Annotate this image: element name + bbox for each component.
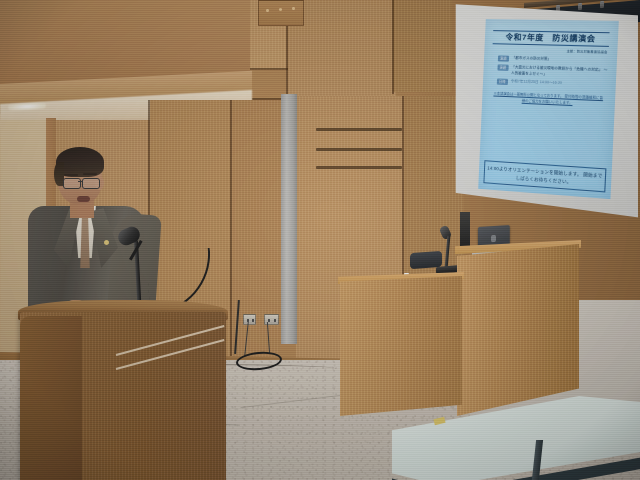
eyeglasses-icon xyxy=(63,178,81,189)
projected-slide: 令和7年度 防災講演会 主催：防災対策推進協議会 演題 「都市ガスの防災対策」 … xyxy=(478,19,619,199)
projection-screen: 令和7年度 防災講演会 主催：防災対策推進協議会 演題 「都市ガスの防災対策」 … xyxy=(452,2,638,224)
presenter-desk xyxy=(457,244,579,416)
podium-stripe xyxy=(116,325,225,356)
slide-row-text: 「都市ガスの防災対策」 xyxy=(512,56,552,63)
wall-outlet-panel[interactable] xyxy=(243,314,256,325)
slide-row-tag: 演題 xyxy=(497,64,508,70)
speaker-eyebrow xyxy=(83,173,97,175)
podium-stripe xyxy=(116,339,225,370)
photograph-seminar-room: 令和7年度 防災講演会 主催：防災対策推進協議会 演題 「都市ガスの防災対策」 … xyxy=(0,0,640,480)
pa-speaker xyxy=(460,212,470,246)
speaker-mouth xyxy=(77,196,90,202)
wall-metal-strip xyxy=(281,94,297,344)
wall-panel-upper-right xyxy=(392,0,452,92)
slide-row-text: 令和7年12月25日 14:00〜16:20 xyxy=(511,79,563,87)
wall-reveal-slot xyxy=(316,166,402,169)
eyeglasses-icon xyxy=(82,178,100,189)
speaker-eyebrow xyxy=(64,174,78,176)
slide-row: 演題 「大震災における被災現地の教訓から「危機への対応」 〜人的被害をふせぐ〜」 xyxy=(497,64,611,79)
side-desk xyxy=(340,276,462,416)
podium-side-panel xyxy=(20,316,82,480)
lapel-pin-icon xyxy=(104,240,109,245)
slide-note: ※本講演会は一般無料公開となっております。 受付時間の混雑緩和に皆様のご協力をお… xyxy=(493,91,603,108)
eyeglasses-bridge xyxy=(78,181,83,182)
wall-reveal-slot xyxy=(316,128,402,131)
slide-row: 演題 「都市ガスの防災対策」 xyxy=(498,55,612,64)
slide-row-text: 「大震災における被災現地の教訓から「危機への対応」 〜人的被害をふせぐ〜」 xyxy=(511,65,611,80)
wall-panel-mid xyxy=(232,100,280,372)
panel-seam xyxy=(392,0,394,94)
wall-reveal-slot xyxy=(316,148,402,151)
ceiling-access-plate xyxy=(258,0,304,26)
slide-row: 日時 令和7年12月25日 14:00〜16:20 xyxy=(497,79,611,89)
slide-title: 令和7年度 防災講演会 xyxy=(493,30,610,47)
laptop-logo-icon xyxy=(491,235,496,242)
slide-bottom-message: 14:00よりオリエンテーションを開始します。 開始までしばらくお待ちください。 xyxy=(483,160,606,192)
panel-seam xyxy=(230,100,232,356)
slide-row-tag: 日時 xyxy=(497,79,508,85)
slide-row-tag: 演題 xyxy=(498,55,509,61)
slide-organizer: 主催：防災対策推進協議会 xyxy=(489,47,607,55)
